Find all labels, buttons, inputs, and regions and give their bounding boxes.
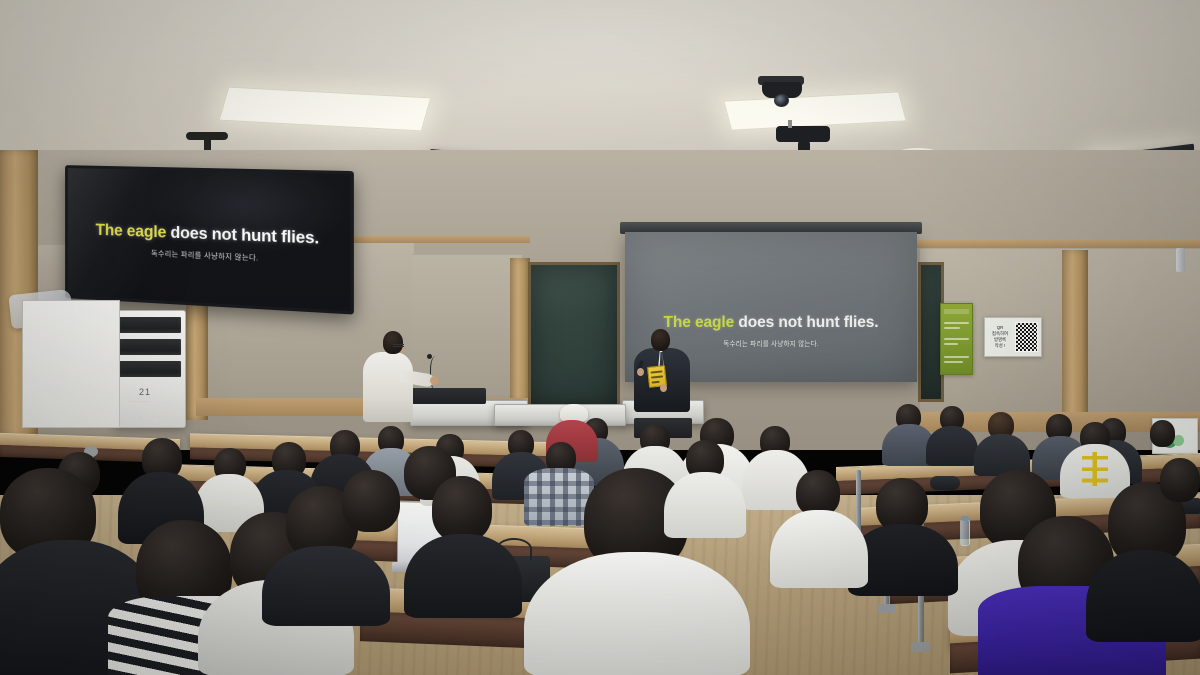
qr-sign-text: QR 접속하여 방명록 작성 ! bbox=[988, 325, 1012, 349]
slide-headline: The eagle does not hunt flies. bbox=[625, 314, 917, 332]
wall-trim bbox=[916, 240, 1200, 248]
wood-column bbox=[510, 258, 530, 408]
ac-temperature-display: 21 bbox=[139, 387, 151, 397]
microphone-head-icon bbox=[427, 354, 432, 359]
wood-column bbox=[1062, 250, 1088, 428]
qr-code-icon bbox=[1015, 322, 1038, 352]
pouch bbox=[930, 476, 960, 490]
control-desk-panel bbox=[412, 388, 486, 404]
audience-head bbox=[1150, 420, 1175, 447]
audience-body bbox=[664, 472, 746, 538]
qr-attendance-sign: QR 접속하여 방명록 작성 ! bbox=[984, 317, 1042, 357]
ac-vent bbox=[119, 361, 181, 377]
audience-body-foreground bbox=[1086, 550, 1200, 642]
tv-mount-plate bbox=[186, 132, 228, 140]
audience-body bbox=[926, 426, 978, 466]
camera-ceiling-rod bbox=[788, 120, 792, 128]
gooseneck-microphone bbox=[430, 356, 444, 390]
audience-head bbox=[1160, 458, 1200, 502]
tv-slide-highlight: The eagle bbox=[96, 221, 167, 241]
slide-rest: does not hunt flies. bbox=[734, 314, 878, 331]
green-poster bbox=[940, 303, 973, 375]
water-bottle bbox=[960, 520, 970, 546]
audience-body-foreground bbox=[404, 534, 522, 618]
slide-highlight: The eagle bbox=[664, 314, 735, 331]
operator-hand bbox=[430, 376, 439, 385]
audience-body-foreground bbox=[262, 546, 390, 626]
presenter-head bbox=[651, 329, 670, 351]
ac-vent bbox=[119, 317, 181, 333]
ac-brand-label: ·········· bbox=[129, 399, 148, 404]
whiteboard-panel bbox=[22, 300, 120, 428]
lecture-hall-photo: ······· The eagle does not hunt flies. 독… bbox=[0, 0, 1200, 675]
bottle-cap bbox=[961, 516, 969, 521]
aisle-rail-foot bbox=[911, 642, 930, 652]
wall-light-fixture bbox=[1176, 248, 1185, 272]
shirt-yellow-print bbox=[1082, 452, 1108, 486]
air-conditioner: 21 ·········· ·· ·· bbox=[114, 310, 186, 428]
audience-head-foreground bbox=[432, 476, 492, 542]
ac-vent bbox=[119, 339, 181, 355]
ac-button-row[interactable]: ·· ·· bbox=[133, 414, 164, 419]
qr-sign-line4: 작성 ! bbox=[988, 343, 1012, 349]
wall-tv-monitor: The eagle does not hunt flies. 독수리는 파리를 … bbox=[65, 165, 354, 314]
camera-lens-icon bbox=[774, 94, 789, 107]
operator-head bbox=[383, 331, 403, 354]
audience-body bbox=[770, 510, 868, 588]
operator-torso bbox=[363, 352, 413, 422]
aisle-rail-foot bbox=[878, 604, 895, 613]
chalkboard bbox=[528, 262, 620, 408]
audience-head-foreground bbox=[342, 470, 400, 532]
presenter-hand bbox=[637, 368, 644, 376]
presenter-hand bbox=[660, 384, 667, 392]
operator-glasses-icon bbox=[393, 344, 404, 347]
